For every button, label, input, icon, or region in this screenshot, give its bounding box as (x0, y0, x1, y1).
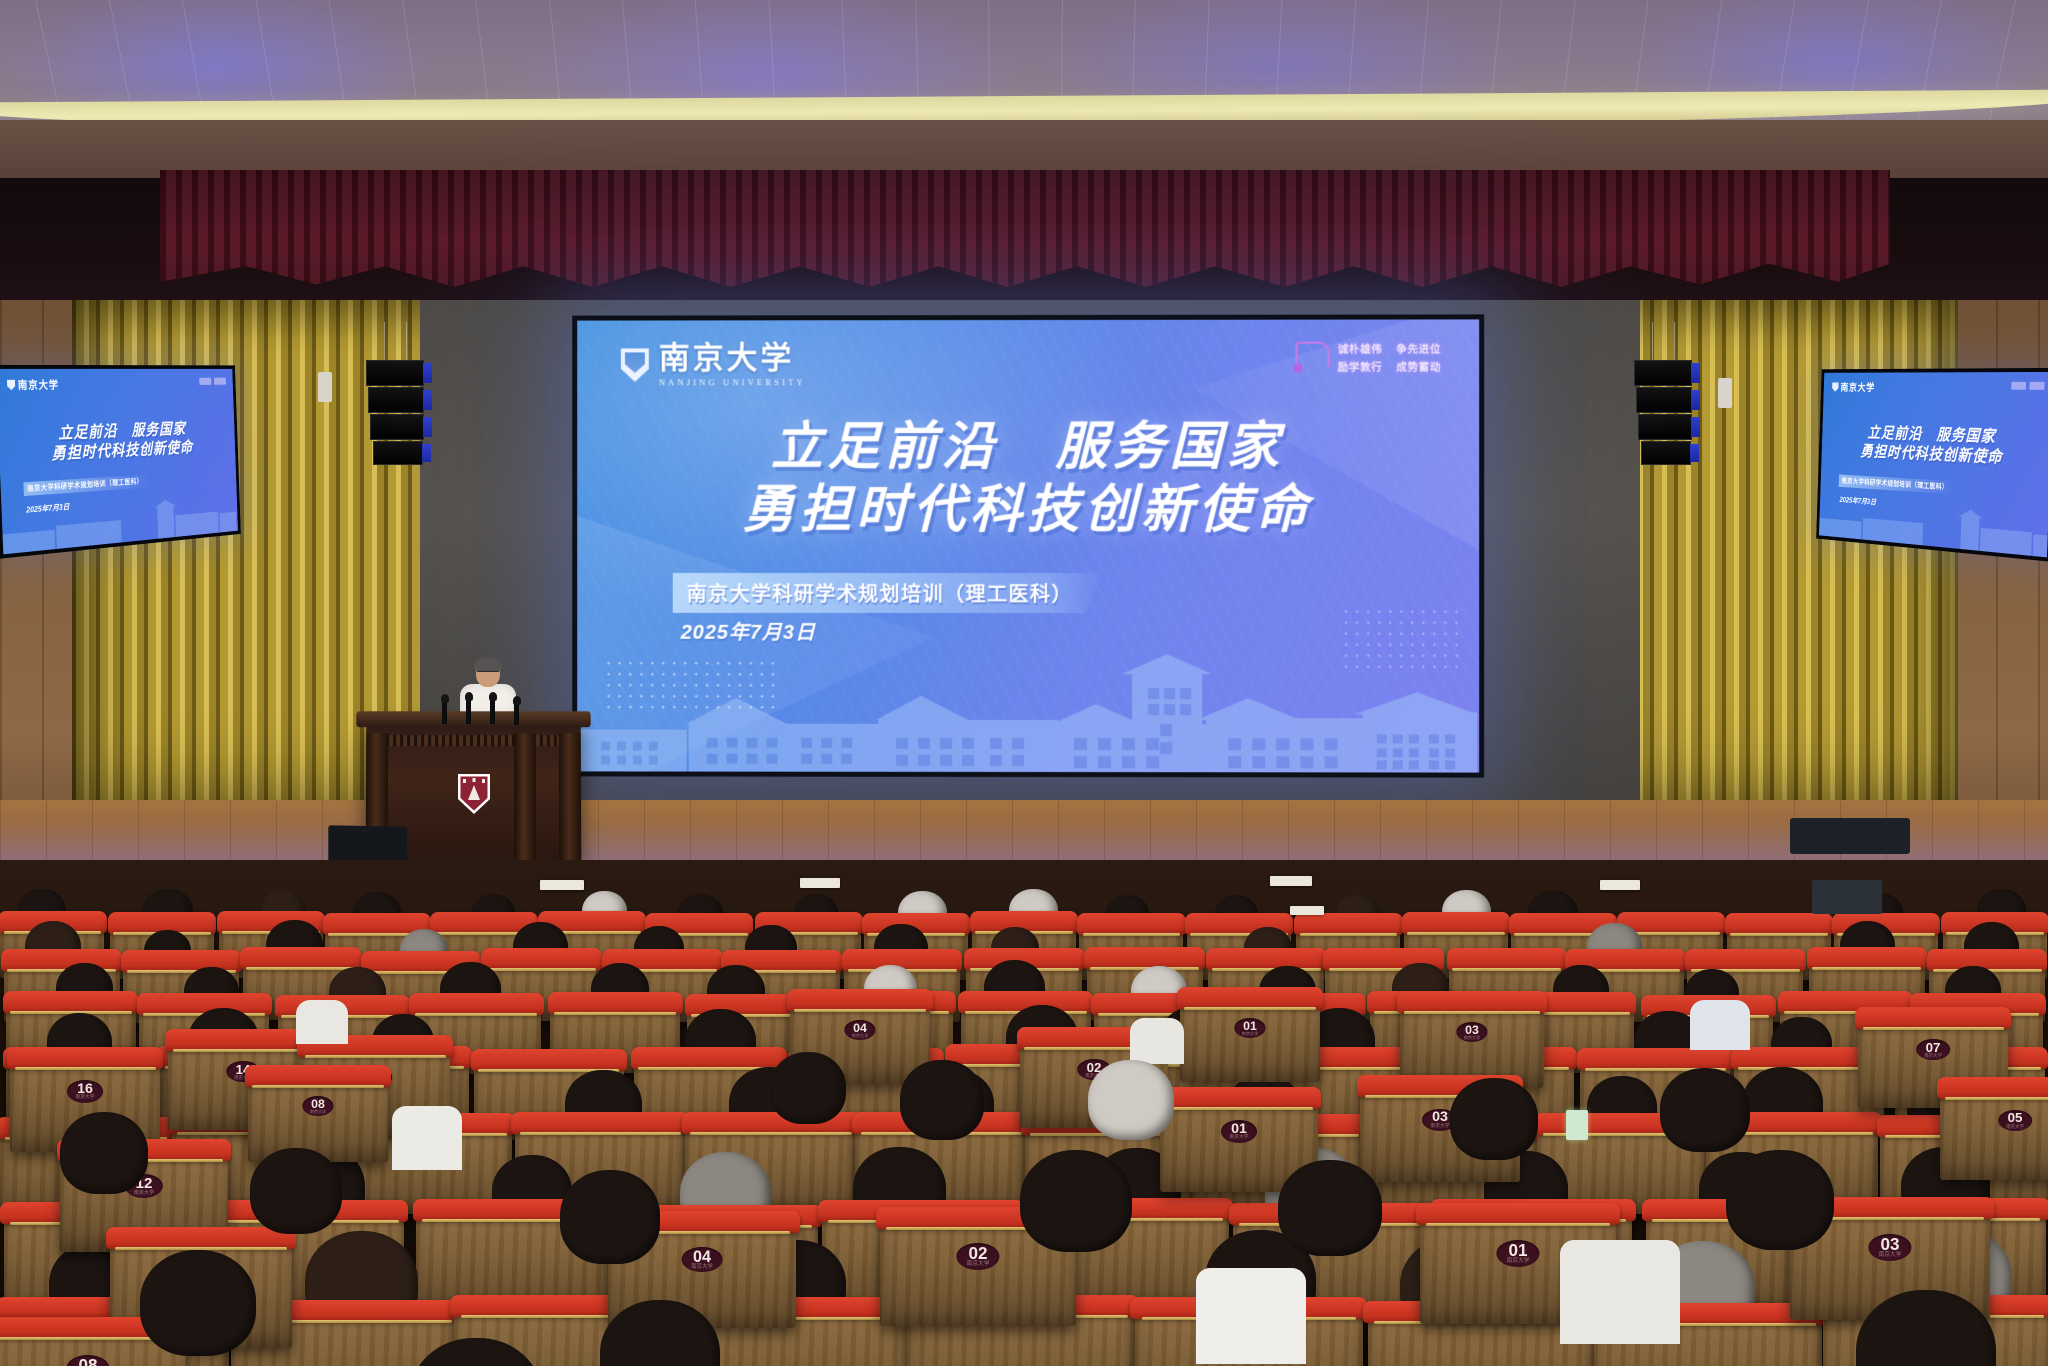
seat-gold-trim (1452, 968, 1561, 971)
seat-cushion (1577, 1048, 1733, 1070)
mini-subtitle-right: 南京大学科研学术规划培训（理工医科） (1839, 475, 1957, 495)
wall-speaker-box-left (318, 372, 332, 402)
microphone-4 (514, 702, 519, 725)
slide-title-line-2: 勇担时代科技创新使命 (577, 479, 1479, 543)
mini-slogan-badge-left (199, 378, 226, 385)
audience-head (1726, 1150, 1834, 1250)
nju-crest-icon (456, 773, 490, 815)
seat-number: 02 (968, 1245, 987, 1262)
audience-person (1130, 1018, 1184, 1064)
seat-gold-trim (1730, 933, 1828, 936)
seat-number-plate: 07南京大学 (1916, 1039, 1950, 1060)
seat-number: 08 (311, 1098, 325, 1110)
seat-plate-sub: 南京大学 (1229, 1136, 1248, 1141)
seat-gold-trim (246, 967, 355, 970)
nju-logo-en: NANJING UNIVERSITY (659, 377, 806, 387)
auditorium-seat-numbered[interactable]: 05南京大学 (1940, 1090, 2048, 1180)
slide-dot-grid-right (1341, 606, 1462, 676)
seat-cushion (1927, 949, 2048, 971)
seat-number: 03 (1432, 1110, 1448, 1124)
line-array-speaker-left (366, 360, 424, 466)
seat-cushion (7, 1047, 163, 1069)
audience-person (1690, 1000, 1750, 1050)
mini-nju-name-left: 南京大学 (17, 377, 59, 393)
mini-nju-shield-icon-left (7, 379, 15, 390)
seat-gold-trim (173, 1049, 314, 1052)
seat-number: 01 (1231, 1122, 1247, 1136)
seat-gold-trim (794, 1009, 926, 1012)
seat-gold-trim (252, 1085, 384, 1088)
seat-plate-sub: 南京大学 (1430, 1125, 1449, 1130)
seat-number: 04 (693, 1249, 711, 1265)
audience-head (60, 1112, 148, 1194)
handout-paper (540, 880, 584, 890)
lectern-top (356, 711, 590, 727)
seat-cushion (409, 993, 544, 1015)
seat-cushion (1177, 987, 1323, 1009)
seat-number-plate: 08南京大学 (302, 1096, 333, 1116)
seat-number-plate: 08南京大学 (66, 1355, 109, 1366)
seat-plate-sub: 南京大学 (2006, 1125, 2024, 1129)
seat-gold-trim (1165, 1107, 1314, 1110)
mini-title-left: 立足前沿 服务国家 勇担时代科技创新使命 (0, 418, 235, 468)
seat-cushion (471, 1049, 627, 1071)
handout-paper (1290, 906, 1324, 915)
seat-number-plate: 16南京大学 (67, 1080, 103, 1103)
seat-cushion (1416, 1203, 1620, 1225)
seat-gold-trim (1404, 1011, 1539, 1014)
seat-plate-sub: 南京大学 (134, 1191, 154, 1196)
audience-head (1660, 1068, 1750, 1152)
seat-number-plate: 04南京大学 (682, 1247, 723, 1273)
seat-cushion (106, 1227, 295, 1249)
seat-cushion (1, 949, 122, 971)
side-monitor-left: 南京大学 立足前沿 服务国家 勇担时代科技创新使命 南京大学科研学术规划培训（理… (0, 365, 241, 559)
mini-nju-shield-icon-right (1832, 382, 1839, 392)
auditorium-scene: 南京大学 NANJING UNIVERSITY 诚朴雄伟 励学敦行 争先进位 成… (0, 0, 2048, 1366)
slide-subtitle: 南京大学科研学术规划培训（理工医科） (687, 584, 1073, 606)
seat-cushion (1077, 913, 1185, 935)
main-led-screen: 南京大学 NANJING UNIVERSITY 诚朴雄伟 励学敦行 争先进位 成… (572, 314, 1484, 777)
seat-gold-trim (1184, 1007, 1316, 1010)
microphone-1 (442, 700, 447, 724)
seat-gold-trim (1812, 967, 1921, 970)
seat-number: 03 (1465, 1024, 1479, 1036)
handout-paper (800, 878, 840, 888)
slogan-c1-l2: 励学敦行 (1338, 360, 1383, 375)
audience-head (900, 1060, 984, 1140)
seat-gold-trim (1083, 933, 1181, 936)
nju-shield-icon (621, 348, 649, 382)
nju-logo: 南京大学 NANJING UNIVERSITY (621, 342, 806, 387)
audience-head (1088, 1060, 1174, 1140)
seat-number: 04 (853, 1022, 867, 1034)
audience-person (1560, 1240, 1680, 1344)
seat-gold-trim (554, 1012, 676, 1015)
side-monitor-right-slide: 南京大学 立足前沿 服务国家 勇担时代科技创新使命 南京大学科研学术规划培训（理… (1819, 372, 2048, 557)
slogan-c2-l2: 成势蓄动 (1396, 360, 1441, 375)
mini-title-right: 立足前沿 服务国家 勇担时代科技创新使命 (1822, 422, 2048, 470)
seat-cushion (1402, 912, 1510, 934)
seat-cushion (1447, 948, 1568, 970)
seat-cushion (631, 1047, 787, 1069)
seat-number: 01 (1508, 1242, 1527, 1259)
slide-date: 2025年7月3日 (681, 616, 816, 645)
audience-seating: 16南京大学14南京大学12南京大学12南京大学10南京大学08南京大学08南京… (0, 860, 2048, 1366)
seat-cushion (1206, 948, 1327, 970)
seat-number: 07 (1926, 1041, 1941, 1054)
seat-cushion (3, 991, 138, 1013)
slogan-c1-l1: 诚朴雄伟 (1338, 342, 1383, 357)
audience-head (560, 1170, 660, 1264)
seat-gold-trim (1426, 1223, 1610, 1226)
line-array-speaker-right (1634, 360, 1692, 466)
seat-cushion (245, 1065, 391, 1087)
seat-plate-sub: 南京大学 (852, 1034, 869, 1038)
seat-cushion (511, 1112, 690, 1134)
seat-gold-trim (415, 1013, 537, 1016)
seat-number-plate: 05南京大学 (1998, 1110, 2032, 1131)
slogan-bracket-icon (1296, 342, 1330, 368)
seat-plate-sub: 南京大学 (1924, 1054, 1942, 1058)
seat-gold-trim (1863, 1027, 2004, 1030)
seat-number-plate: 04南京大学 (844, 1020, 875, 1040)
seat-number: 16 (77, 1082, 93, 1096)
seat-number-plate: 01南京大学 (1234, 1018, 1265, 1038)
mini-slogan-badge-right (2011, 382, 2044, 390)
seat-cushion (1807, 947, 1928, 969)
presenter-glasses (477, 671, 499, 676)
seat-gold-trim (1300, 933, 1398, 936)
seat-gold-trim (1407, 932, 1505, 935)
seat-cushion (1294, 913, 1402, 935)
seat-plate-sub: 南京大学 (1464, 1036, 1481, 1040)
seat-cushion (1725, 913, 1833, 935)
slide-title-block: 立足前沿 服务国家 勇担时代科技创新使命 (577, 416, 1479, 543)
side-monitor-left-slide: 南京大学 立足前沿 服务国家 勇担时代科技创新使命 南京大学科研学术规划培训（理… (0, 369, 238, 554)
auditorium-seat-numbered[interactable]: 08南京大学 (248, 1078, 388, 1162)
microphone-2 (466, 698, 471, 724)
mini-nju-logo-left: 南京大学 (7, 377, 59, 393)
seat-gold-trim (15, 1067, 156, 1070)
slide-dot-grid-left (603, 658, 782, 716)
audience-head (770, 1052, 846, 1124)
seat-cushion (1855, 1007, 2011, 1029)
attendee-phone (1566, 1110, 1588, 1140)
mini-nju-logo-right: 南京大学 (1832, 380, 1875, 394)
audience-head (140, 1250, 256, 1356)
wall-speaker-box-right (1718, 378, 1732, 408)
main-slide: 南京大学 NANJING UNIVERSITY 诚朴雄伟 励学敦行 争先进位 成… (577, 319, 1479, 772)
side-monitor-right: 南京大学 立足前沿 服务国家 勇担时代科技创新使命 南京大学科研学术规划培训（理… (1816, 368, 2048, 562)
seat-cushion (1937, 1077, 2048, 1099)
seat-gold-trim (1945, 1097, 2048, 1100)
seat-cushion (548, 992, 683, 1014)
seat-plate-sub: 南京大学 (967, 1262, 990, 1268)
seat-number-plate: 01南京大学 (1221, 1120, 1257, 1143)
seat-plate-sub: 南京大学 (1242, 1032, 1259, 1036)
audience-head (1278, 1160, 1382, 1256)
seat-number: 08 (78, 1357, 97, 1366)
audience-head (250, 1148, 342, 1234)
auditorium-seat-numbered[interactable]: 01南京大学 (1180, 1000, 1320, 1082)
audience-person (392, 1106, 462, 1170)
mini-nju-name-right: 南京大学 (1840, 380, 1875, 394)
seat-cushion (1157, 1087, 1321, 1109)
slide-title-line-1: 立足前沿 服务国家 (577, 416, 1479, 480)
presenter-hair (474, 658, 502, 672)
seat-number: 05 (2008, 1111, 2023, 1124)
seat-gold-trim (487, 968, 596, 971)
seat-gold-trim (520, 1132, 682, 1135)
seat-cushion (481, 948, 602, 970)
seat-cushion (1397, 991, 1547, 1013)
handout-paper (1600, 880, 1640, 890)
seat-cushion (1084, 947, 1205, 969)
audience-head (1020, 1150, 1132, 1252)
seat-number: 03 (1880, 1236, 1899, 1253)
seat-number-plate: 01南京大学 (1496, 1240, 1539, 1267)
seat-plate-sub: 南京大学 (1507, 1259, 1530, 1265)
seat-number-plate: 03南京大学 (1456, 1022, 1487, 1042)
microphone-3 (490, 698, 495, 724)
seat-plate-sub: 南京大学 (310, 1110, 327, 1114)
slide-subtitle-bar: 南京大学科研学术规划培训（理工医科） (673, 573, 1103, 613)
seat-plate-sub: 南京大学 (691, 1265, 713, 1270)
seat-cushion (1685, 949, 1806, 971)
nju-logo-cn: 南京大学 (659, 342, 806, 373)
mini-subtitle-left: 南京大学科研学术规划培训（理工医科） (23, 475, 150, 497)
slogan-c2-l1: 争先进位 (1396, 342, 1441, 357)
seat-number-plate: 03南京大学 (1868, 1234, 1911, 1261)
slide-slogan-badge: 诚朴雄伟 励学敦行 争先进位 成势蓄动 (1296, 342, 1441, 375)
stage-side-table (1790, 818, 1910, 854)
attendee-laptop (1812, 880, 1882, 914)
seat-plate-sub: 南京大学 (1879, 1253, 1902, 1259)
audience-person (296, 1000, 348, 1044)
audience-head (1450, 1078, 1538, 1160)
seat-gold-trim (690, 1132, 852, 1135)
seat-plate-sub: 南京大学 (75, 1096, 94, 1101)
seat-number: 01 (1243, 1020, 1257, 1032)
seat-cushion (240, 947, 361, 969)
seat-gold-trim (305, 1055, 446, 1058)
handout-paper (1270, 876, 1312, 886)
audience-person (1196, 1268, 1306, 1364)
lectern-trim (372, 735, 575, 746)
seat-cushion (787, 989, 933, 1011)
seat-number-plate: 02南京大学 (956, 1243, 999, 1270)
